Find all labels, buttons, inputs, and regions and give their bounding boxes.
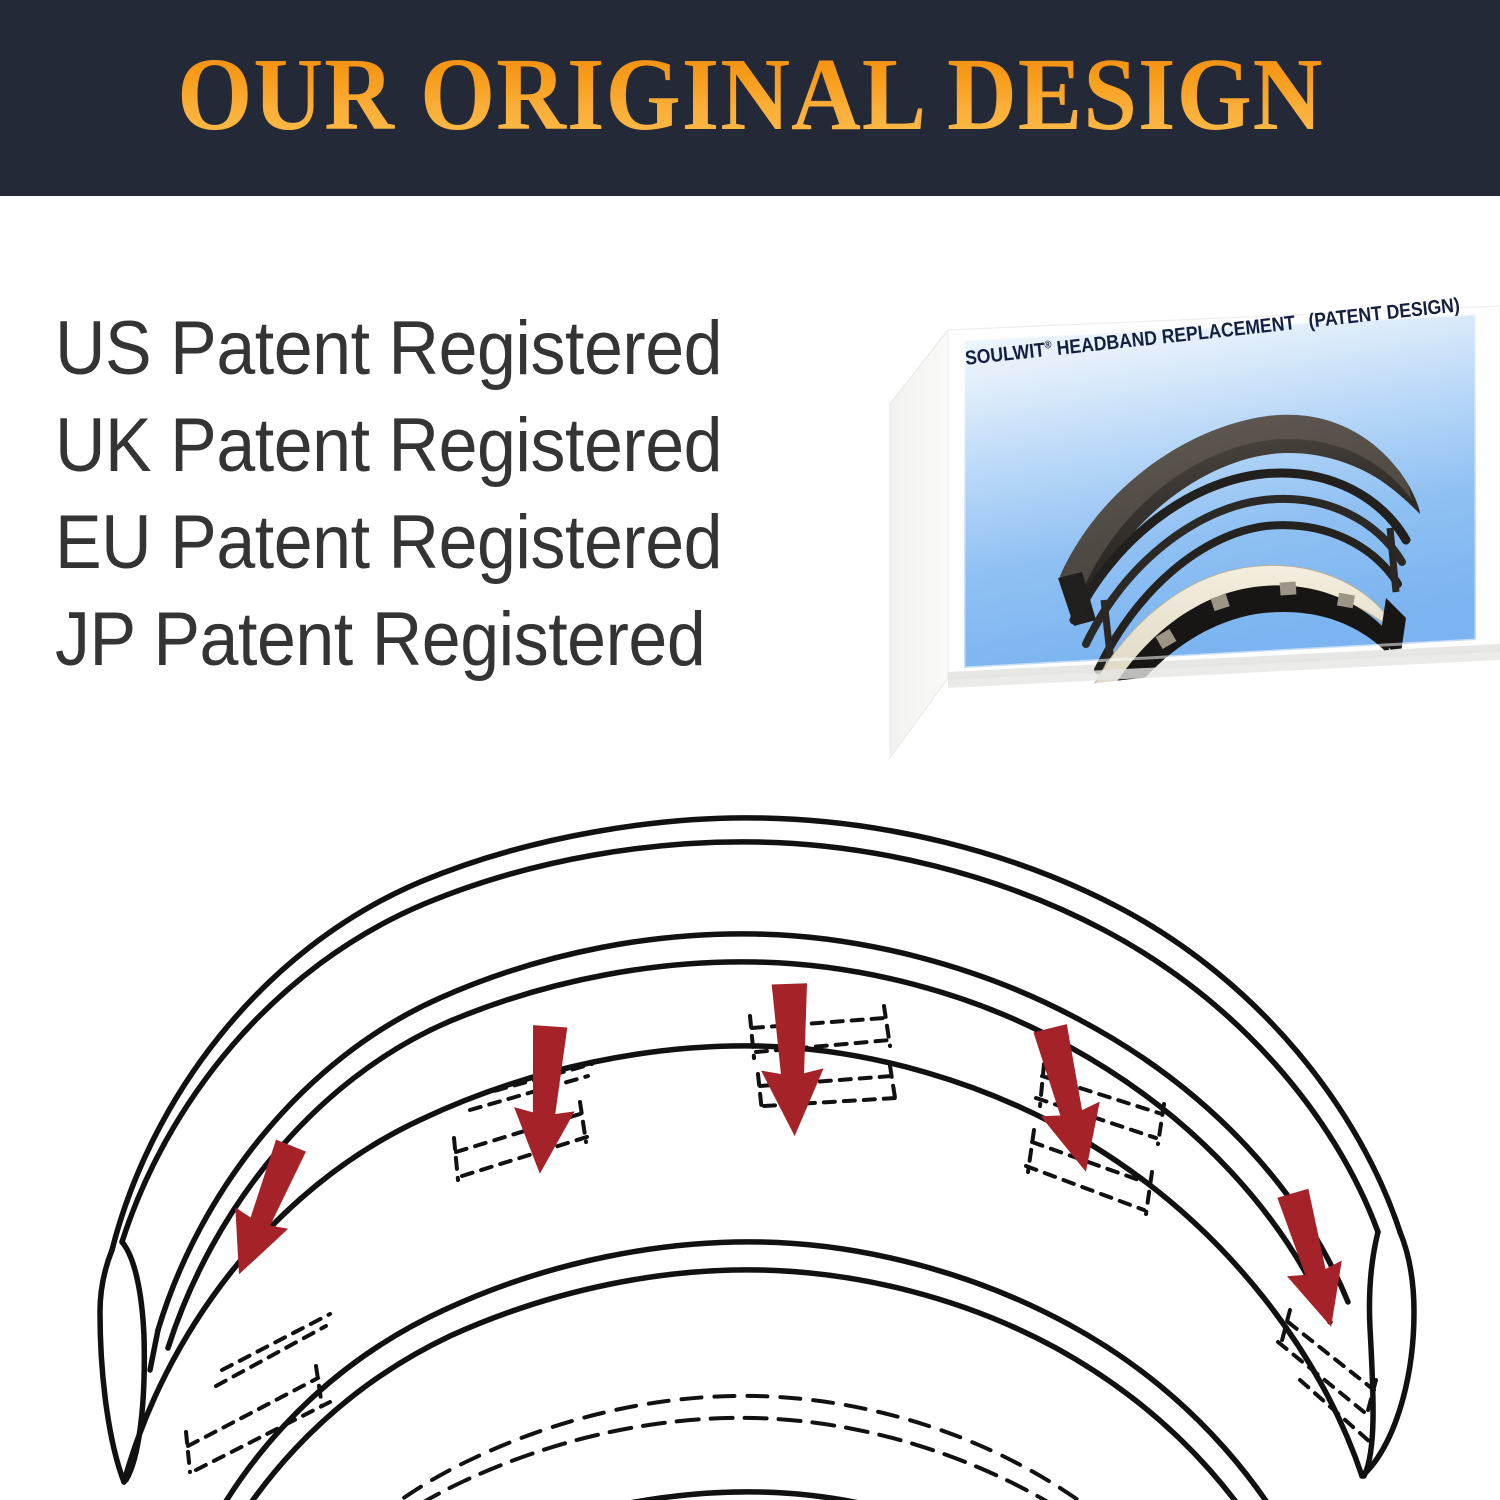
- headband-exploded-diagram: [0, 770, 1500, 1500]
- band-clip-3: [1280, 581, 1297, 595]
- patent-item-uk: UK Patent Registered: [55, 397, 754, 494]
- header-banner: OUR ORIGINAL DESIGN: [0, 0, 1500, 196]
- arrow-2-icon: [510, 1024, 581, 1176]
- patent-item-jp: JP Patent Registered: [55, 591, 754, 688]
- band-end-left: [1076, 696, 1110, 748]
- box-left-face: [890, 330, 948, 758]
- patent-item-eu: EU Patent Registered: [55, 494, 754, 591]
- arrow-5-icon: [1265, 1185, 1358, 1334]
- arrow-1-icon: [213, 1135, 318, 1285]
- patent-item-us: US Patent Registered: [55, 300, 754, 397]
- page-title: OUR ORIGINAL DESIGN: [177, 43, 1323, 153]
- product-package-box: SOULWIT® HEADBAND REPLACEMENT (PATENT DE…: [860, 300, 1500, 770]
- patent-claims-list: US Patent Registered UK Patent Registere…: [55, 300, 815, 688]
- product-box-illustration: [860, 300, 1500, 770]
- assembly-direction-arrows: [213, 983, 1359, 1335]
- patent-line-drawing: [0, 770, 1500, 1500]
- lower-headband-part: [175, 1242, 1334, 1500]
- band-clip-4: [1337, 593, 1355, 609]
- arrow-3-icon: [758, 983, 826, 1137]
